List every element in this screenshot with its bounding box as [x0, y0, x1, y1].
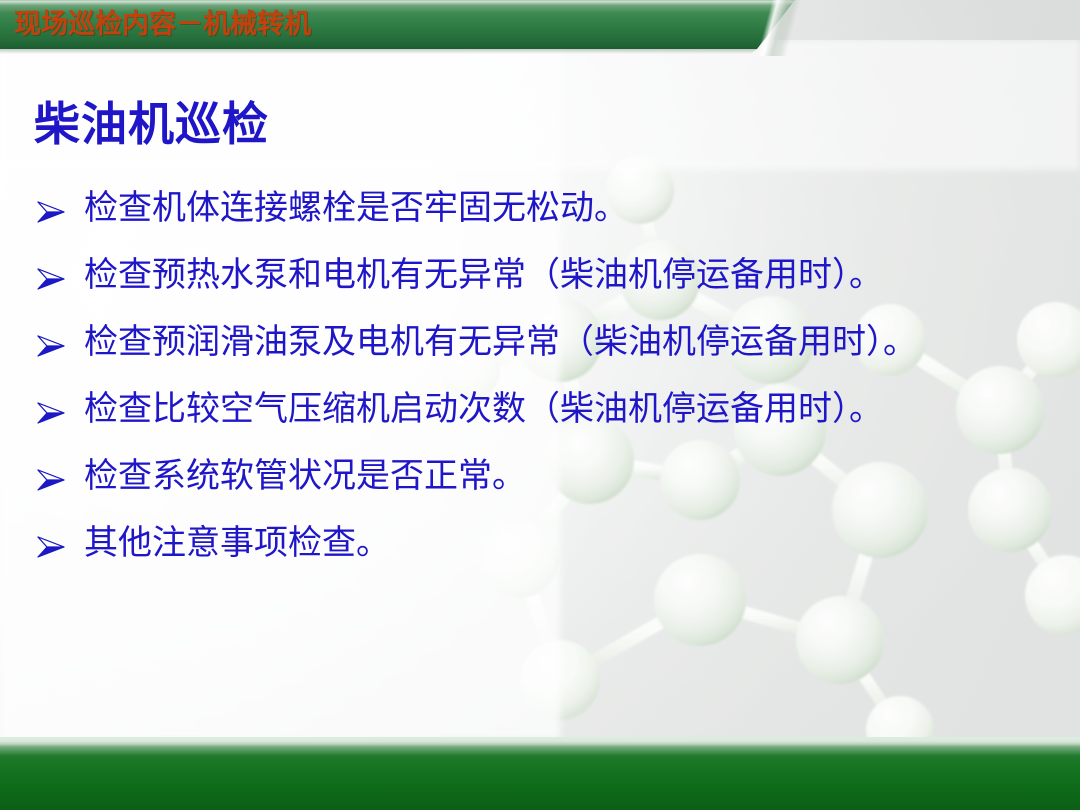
list-item-label: 检查机体连接螺栓是否牢固无松动。 [84, 186, 1070, 232]
list-item: 检查预热水泵和电机有无异常（柴油机停运备用时）。 [30, 253, 1070, 320]
arrow-bullet-icon [30, 186, 84, 224]
list-item: 其他注意事项检查。 [30, 521, 1070, 588]
slide: 现场巡检内容－机械转机 柴油机巡检 检查机体连接螺栓是否牢固无松动。 检查预热水… [0, 0, 1080, 810]
arrow-bullet-icon [30, 387, 84, 425]
header-band-shadow [0, 49, 790, 54]
arrow-bullet-icon [30, 253, 84, 291]
list-item-label: 检查预润滑油泵及电机有无异常（柴油机停运备用时）。 [84, 320, 1070, 366]
list-item: 检查系统软管状况是否正常。 [30, 454, 1070, 521]
list-item-label: 检查预热水泵和电机有无异常（柴油机停运备用时）。 [84, 253, 1070, 299]
footer-band [0, 737, 1080, 810]
list-item: 检查机体连接螺栓是否牢固无松动。 [30, 186, 1070, 253]
list-item-label: 检查比较空气压缩机启动次数（柴油机停运备用时）。 [84, 387, 1070, 433]
arrow-bullet-icon [30, 454, 84, 492]
arrow-bullet-icon [30, 320, 84, 358]
bullet-list: 检查机体连接螺栓是否牢固无松动。 检查预热水泵和电机有无异常（柴油机停运备用时）… [30, 186, 1070, 588]
list-item: 检查预润滑油泵及电机有无异常（柴油机停运备用时）。 [30, 320, 1070, 387]
list-item: 检查比较空气压缩机启动次数（柴油机停运备用时）。 [30, 387, 1070, 454]
list-item-label: 检查系统软管状况是否正常。 [84, 454, 1070, 500]
page-title: 柴油机巡检 [34, 96, 269, 154]
footer-band-highlight [0, 737, 1080, 746]
arrow-bullet-icon [30, 521, 84, 559]
header-title: 现场巡检内容－机械转机 [14, 8, 311, 40]
list-item-label: 其他注意事项检查。 [84, 521, 1070, 567]
